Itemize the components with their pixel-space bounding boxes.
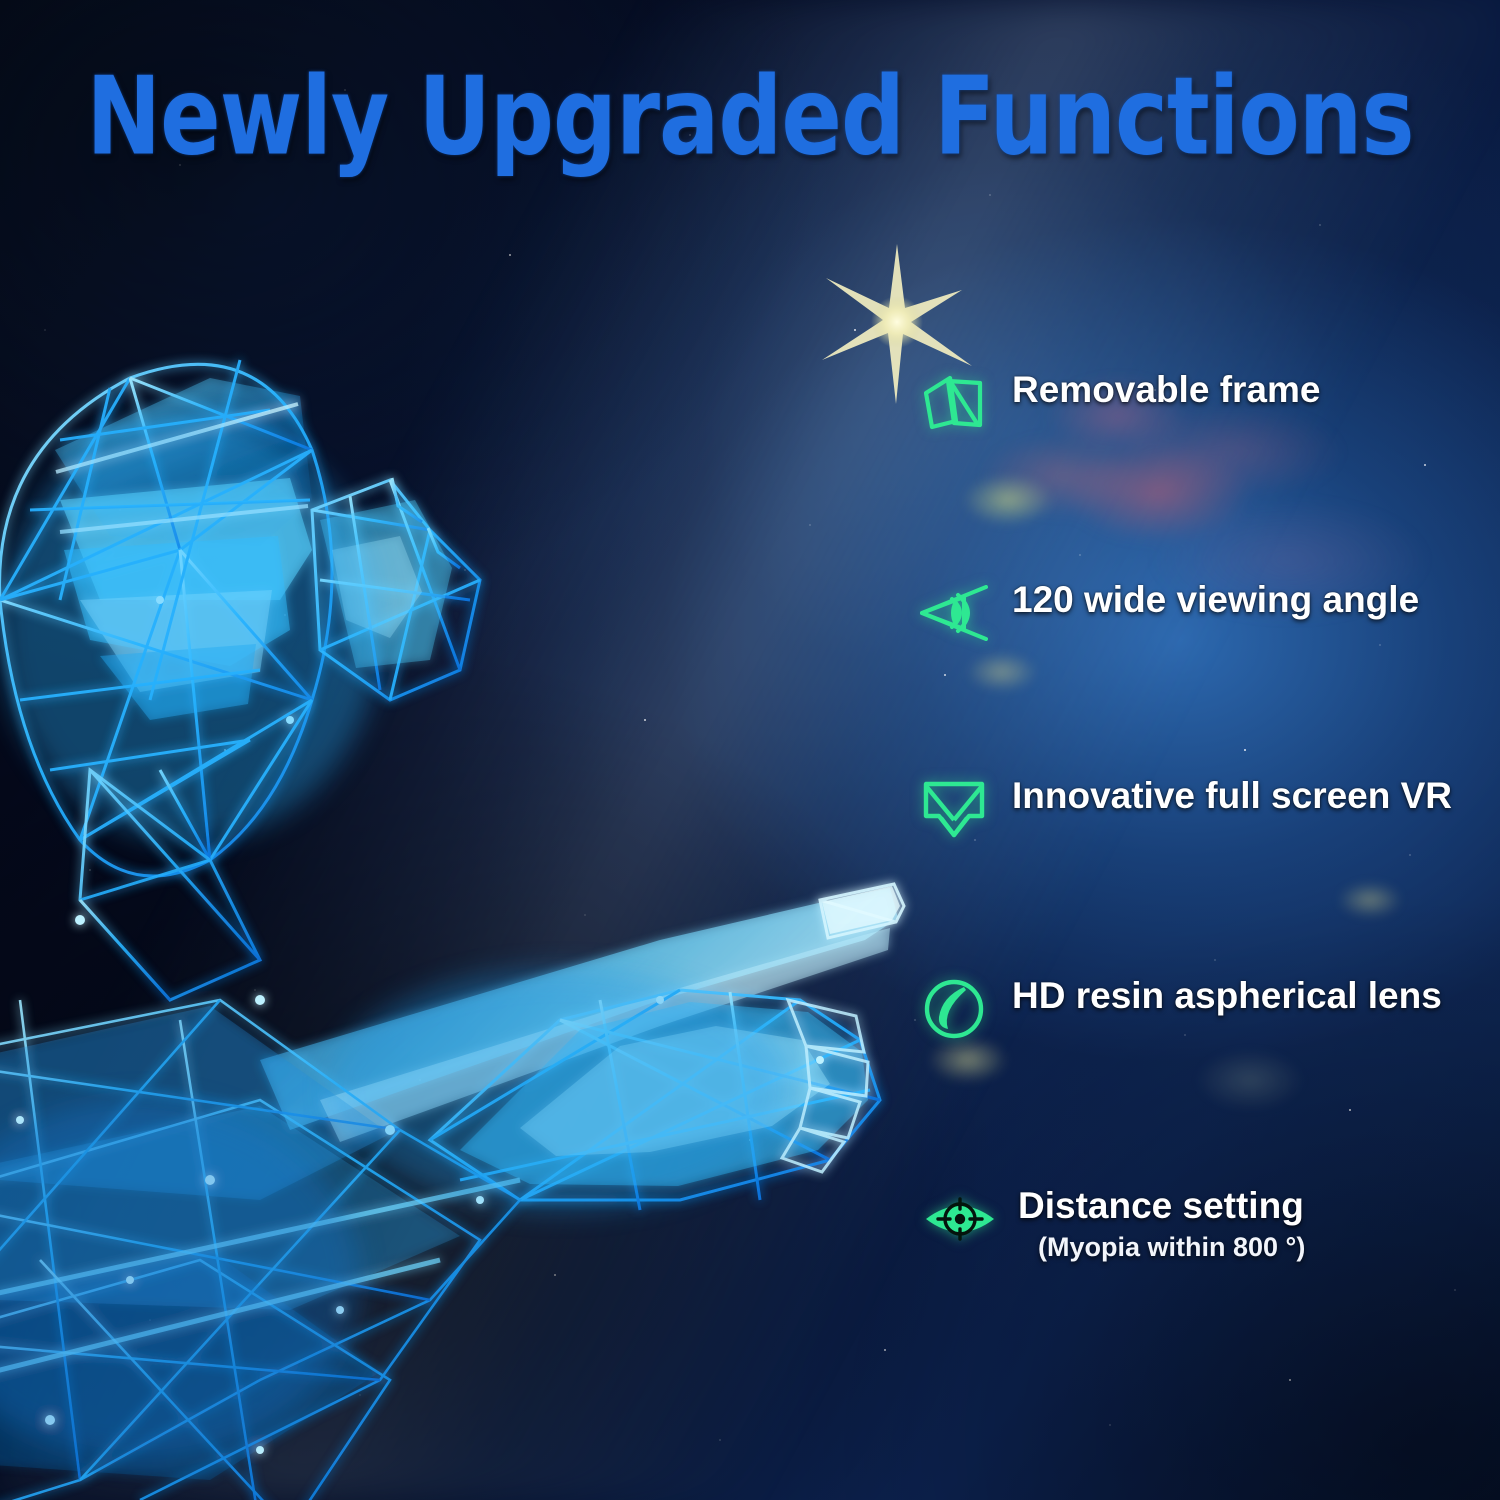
feature-label: Innovative full screen VR xyxy=(1012,776,1452,815)
aspherical-lens-icon xyxy=(918,972,990,1046)
feature-text-wrap: Distance setting (Myopia within 800 °) xyxy=(1018,1182,1305,1263)
feature-label: Removable frame xyxy=(1012,370,1320,409)
feature-item-full-screen-vr[interactable]: Innovative full screen VR xyxy=(918,772,1452,846)
feature-label: Distance setting xyxy=(1018,1186,1305,1225)
full-screen-vr-headset-icon xyxy=(918,772,990,846)
product-feature-banner: Newly Upgraded Functions Removable frame xyxy=(0,0,1500,1500)
feature-list: Removable frame 120 wide viewing xyxy=(918,0,1500,1500)
distance-setting-target-eye-icon xyxy=(924,1182,996,1256)
feature-text-wrap: HD resin aspherical lens xyxy=(1012,972,1442,1015)
feature-text-wrap: Removable frame xyxy=(1012,366,1320,409)
feature-item-viewing-angle[interactable]: 120 wide viewing angle xyxy=(918,576,1419,650)
feature-item-aspherical-lens[interactable]: HD resin aspherical lens xyxy=(918,972,1442,1046)
feature-label: HD resin aspherical lens xyxy=(1012,976,1442,1015)
removable-frame-icon xyxy=(918,366,990,440)
feature-item-removable-frame[interactable]: Removable frame xyxy=(918,366,1320,440)
feature-text-wrap: 120 wide viewing angle xyxy=(1012,576,1419,619)
wide-viewing-angle-eye-icon xyxy=(918,576,990,650)
feature-item-distance-setting[interactable]: Distance setting (Myopia within 800 °) xyxy=(924,1182,1305,1263)
feature-text-wrap: Innovative full screen VR xyxy=(1012,772,1452,815)
feature-sublabel: (Myopia within 800 °) xyxy=(1038,1233,1305,1263)
feature-label: 120 wide viewing angle xyxy=(1012,580,1419,619)
